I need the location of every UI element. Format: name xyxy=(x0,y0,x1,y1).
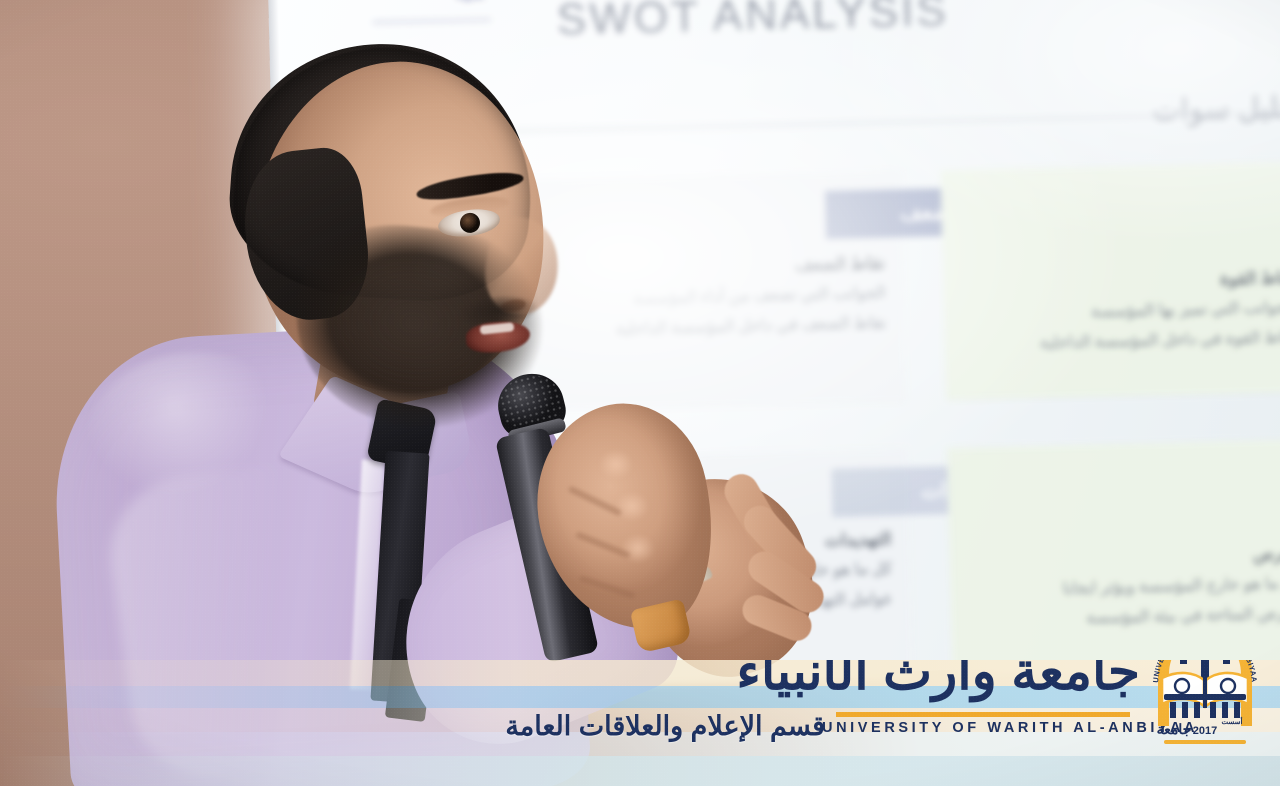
pupil xyxy=(459,212,481,234)
slide-bullets-opportunities: الفرص كل ما هو خارج المؤسسة ويؤثر ايجابا… xyxy=(971,538,1280,636)
department-name-arabic: قسم الإعلام والعلاقات العامة xyxy=(505,711,825,742)
university-emblem: UNIVERSITY OF WARITH AL-ANBIYAA xyxy=(1144,660,1266,754)
emblem-jamia-label: جامعة xyxy=(1157,721,1192,737)
slide-bullets-strengths: نقاط القوة الجوانب التي تميز بها المؤسسة… xyxy=(965,262,1280,360)
photo-canvas: جامعة وارث الأنبياء SWOT ANALYSIS تحليل … xyxy=(0,0,1280,786)
emblem-year: 2017 xyxy=(1193,725,1217,737)
emblem-book-spine xyxy=(1203,674,1207,708)
knuckle xyxy=(596,450,640,488)
emblem-base-rule xyxy=(1164,740,1246,744)
wordmark-gold-rule xyxy=(836,712,1130,717)
slide-subtitle: تحليل سوات xyxy=(1152,90,1280,129)
banner-stripe-bottom xyxy=(0,756,1280,786)
university-wordmark: جامعة وارث الأنبياء UNIVERSITY OF WARITH… xyxy=(822,660,1140,750)
emblem-svg: UNIVERSITY OF WARITH AL-ANBIYAA xyxy=(1144,660,1266,754)
university-name-arabic: جامعة وارث الأنبياء xyxy=(822,660,1140,698)
shoulder-highlight xyxy=(86,352,306,532)
university-name-english: UNIVERSITY OF WARITH AL-ANBIYAA xyxy=(822,720,1140,736)
broadcast-banner: قسم الإعلام والعلاقات العامة جامعة وارث … xyxy=(0,660,1280,786)
